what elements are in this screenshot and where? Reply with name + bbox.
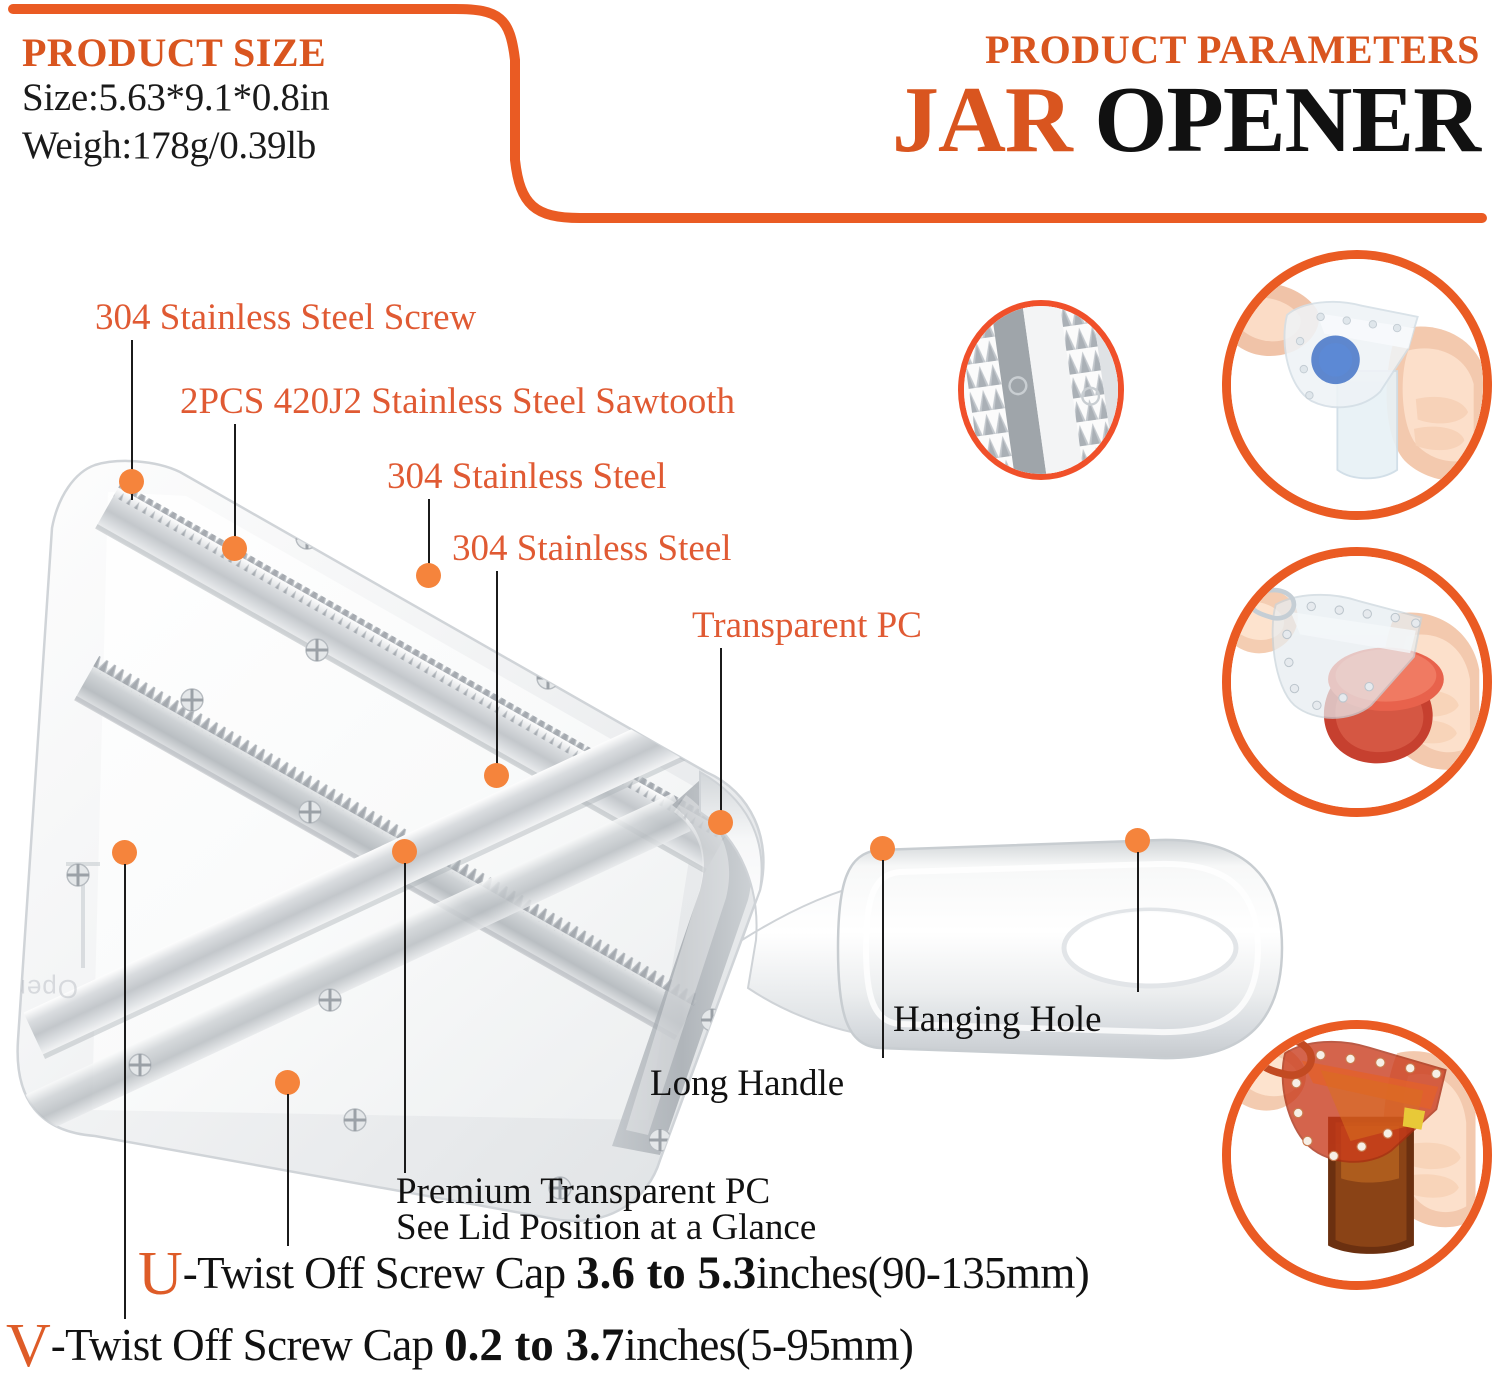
callout-label-premium-pc-line1: Premium Transparent PC [396,1172,770,1211]
spec-text-u-after: inches(90-135mm) [756,1248,1089,1298]
leader-line-sawtooth [234,424,236,544]
callout-label-steel-1: 304 Stainless Steel [387,457,667,496]
spec-text-v-before: -Twist Off Screw Cap [51,1320,444,1370]
callout-label-transparent-pc: Transparent PC [692,606,922,645]
callout-label-screw: 304 Stainless Steel Screw [95,298,476,337]
product-size-block: PRODUCT SIZE Size:5.63*9.1*0.8in Weigh:1… [22,32,542,169]
spec-text-v-after: inches(5-95mm) [624,1320,913,1370]
callout-dot-premium-pc [392,839,417,864]
product-size-dimensions: Size:5.63*9.1*0.8in [22,74,542,122]
callout-label-sawtooth: 2PCS 420J2 Stainless Steel Sawtooth [180,382,735,421]
product-parameters-title: PRODUCT PARAMETERS [580,28,1480,72]
photo-honey-jar [1222,1020,1492,1290]
leader-line-steel-1 [428,499,430,569]
leader-line-u-gap [287,1094,289,1246]
callout-dot-steel-1 [416,563,441,588]
callout-dot-hanging-hole [1125,828,1150,853]
spec-range-u: 3.6 to 5.3 [576,1247,756,1299]
callout-dot-screw [119,469,144,494]
leader-line-steel-2 [496,571,498,769]
svg-text:niuxsun: niuxsun [192,1172,330,1213]
photo-bottle-cap [1222,250,1492,520]
callout-label-hanging-hole: Hanging Hole [893,1000,1102,1039]
callout-dot-v-gap [112,840,137,865]
leader-line-hanging-hole [1137,852,1139,992]
callout-dot-u-gap [275,1070,300,1095]
callout-label-premium-pc-line2: See Lid Position at a Glance [396,1208,816,1247]
photo-red-lid-jar [1222,547,1492,817]
spec-letter-v: V [6,1312,51,1380]
spec-line-u: U-Twist Off Screw Cap 3.6 to 5.3inches(9… [138,1243,1089,1305]
leader-line-transparent-pc [720,648,722,816]
callout-dot-steel-2 [484,763,509,788]
product-name-jar: JAR [892,68,1094,172]
spec-letter-u: U [138,1240,183,1308]
embossed-brand-text: niuxsun [192,1172,330,1213]
leader-line-long-handle [882,860,884,1058]
product-size-weight: Weigh:178g/0.39lb [22,122,542,170]
leader-line-v-gap [124,864,126,1319]
callout-label-long-handle: Long Handle [650,1064,844,1103]
spec-line-v: V-Twist Off Screw Cap 0.2 to 3.7inches(5… [6,1315,913,1377]
callout-dot-sawtooth [222,536,247,561]
leader-line-premium-pc [404,863,406,1173]
detail-sawtooth-inset [958,300,1124,480]
callout-dot-transparent-pc [708,810,733,835]
product-size-title: PRODUCT SIZE [22,32,542,74]
spec-range-v: 0.2 to 3.7 [444,1319,624,1371]
product-parameters-block: PRODUCT PARAMETERS JAR OPENER [580,28,1480,166]
page-title: JAR OPENER [580,74,1480,166]
product-name-opener: OPENER [1094,68,1480,172]
callout-dot-long-handle [870,836,895,861]
spec-text-u-before: -Twist Off Screw Cap [183,1248,576,1298]
callout-label-steel-2: 304 Stainless Steel [452,529,732,568]
product-infographic: PRODUCT SIZE Size:5.63*9.1*0.8in Weigh:1… [0,0,1500,1389]
